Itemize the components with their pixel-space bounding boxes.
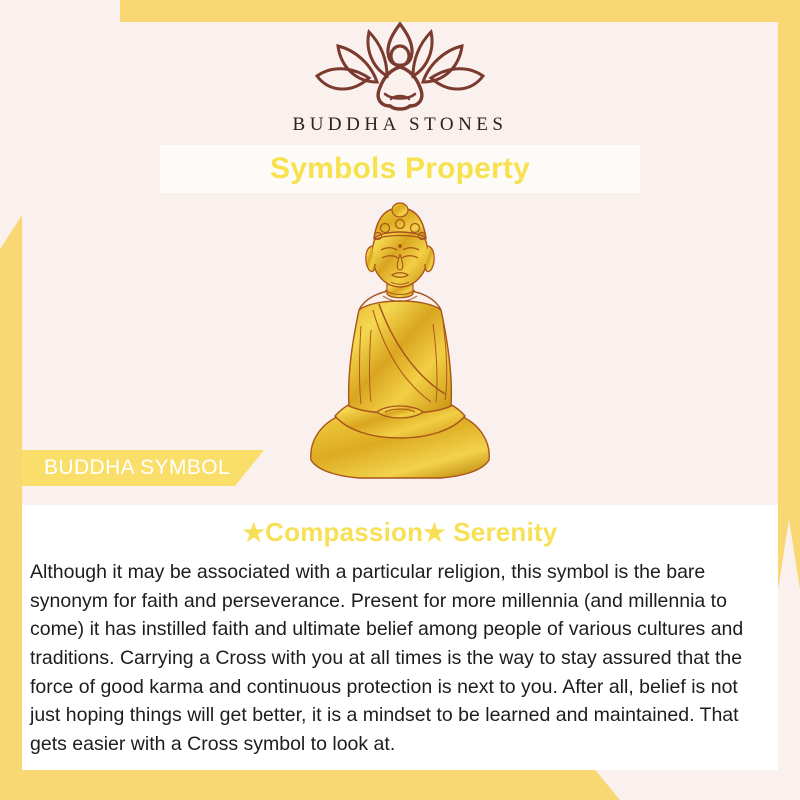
brand-wordmark: BUDDHA STONES: [0, 114, 800, 136]
ribbon-label: BUDDHA SYMBOL: [44, 456, 230, 480]
decor-band-top: [120, 0, 800, 22]
section-ribbon: BUDDHA SYMBOL: [22, 450, 264, 486]
headline-word-serenity: Serenity: [453, 517, 557, 547]
golden-buddha-statue: [295, 198, 505, 498]
star-icon-left: ★: [243, 519, 266, 547]
title-banner: Symbols Property: [160, 145, 640, 193]
brand-logo: BUDDHA STONES: [0, 20, 800, 136]
star-icon-right: ★: [423, 519, 446, 547]
content-headline: ★Compassion★ Serenity: [22, 517, 778, 548]
content-panel: ★Compassion★ Serenity Although it may be…: [22, 505, 778, 770]
poster-page: BUDDHA STONES Symbols Property: [0, 0, 800, 800]
decor-band-bottom: [0, 770, 620, 800]
headline-word-compassion: Compassion: [265, 517, 423, 547]
content-paragraph: Although it may be associated with a par…: [30, 558, 770, 759]
lotus-meditation-icon: [307, 20, 493, 112]
page-title: Symbols Property: [270, 152, 530, 186]
